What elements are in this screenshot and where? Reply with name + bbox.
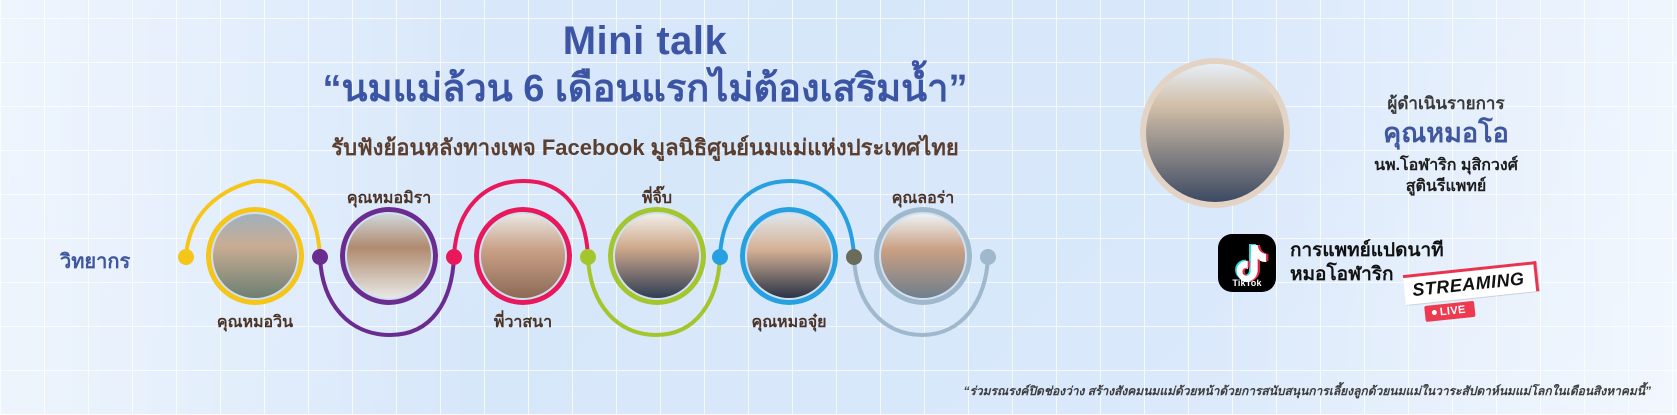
social-channel-line1: การแพทย์แปดนาที (1290, 239, 1444, 263)
speaker-label-3: พี่วาสนา (448, 310, 598, 335)
speaker-ring-6 (874, 207, 972, 305)
headline-quote: “นมแม่ล้วน 6 เดือนแรกไม่ต้องเสริมน้ำ” (180, 66, 1110, 114)
speaker-ring-4 (608, 207, 706, 305)
speaker-ring-1 (206, 207, 304, 305)
host-info: ผู้ดำเนินรายการ คุณหมอโอ นพ.โอฬาริก มุสิ… (1296, 90, 1596, 198)
tiktok-icon[interactable]: TikTok (1218, 234, 1276, 292)
host-role: ผู้ดำเนินรายการ (1296, 90, 1596, 117)
host-specialty: สูตินรีแพทย์ (1296, 176, 1596, 198)
speaker-avatar-6[interactable] (874, 207, 972, 305)
speaker-ring-2 (340, 207, 438, 305)
host-fullname: นพ.โอฬาริก มุสิกวงศ์ (1296, 155, 1596, 177)
speaker-avatar-4[interactable] (608, 207, 706, 305)
host-nickname: คุณหมอโอ (1296, 119, 1596, 149)
speaker-label-2: คุณหมอมิรา (314, 186, 464, 211)
speaker-avatar-3[interactable] (474, 207, 572, 305)
speaker-label-4: พี่จิ๊บ (582, 186, 732, 211)
promo-banner: Mini talk “นมแม่ล้วน 6 เดือนแรกไม่ต้องเส… (0, 0, 1677, 415)
headline-block: Mini talk “นมแม่ล้วน 6 เดือนแรกไม่ต้องเส… (180, 18, 1110, 165)
speaker-label-5: คุณหมอจุ๋ย (714, 310, 864, 335)
speaker-avatar-1[interactable] (206, 207, 304, 305)
speaker-label-1: คุณหมอวิน (180, 310, 330, 335)
live-dot-icon (1432, 309, 1437, 314)
footer-caption: “ร่วมรณรงค์ปิดช่องว่าง สร้างสังคมนมแม่ด้… (963, 382, 1651, 401)
speaker-avatar-5[interactable] (740, 207, 838, 305)
live-label: LIVE (1439, 304, 1466, 319)
tiktok-wordmark: TikTok (1218, 278, 1276, 288)
headline-subtitle: รับฟังย้อนหลังทางเพจ Facebook มูลนิธิศูน… (180, 130, 1110, 165)
speaker-label-6: คุณลอร่า (848, 186, 998, 211)
speaker-ring-5 (740, 207, 838, 305)
host-avatar (1140, 58, 1290, 208)
speaker-avatar-2[interactable] (340, 207, 438, 305)
speaker-ring-3 (474, 207, 572, 305)
page-title: Mini talk (180, 18, 1110, 64)
live-badge: LIVE (1424, 301, 1475, 322)
